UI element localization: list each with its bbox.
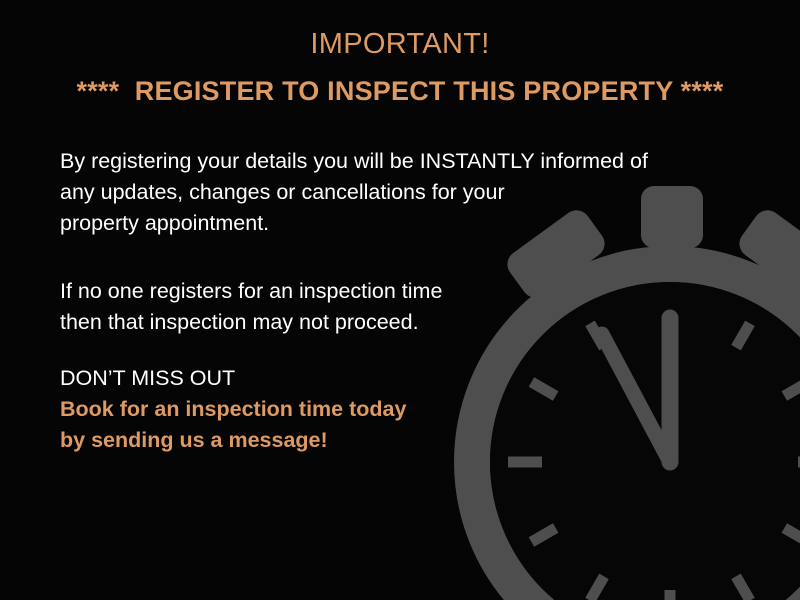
text-layer: IMPORTANT! **** REGISTER TO INSPECT THIS…	[0, 0, 800, 600]
cta-dont-miss-out: DON’T MISS OUT	[60, 363, 235, 394]
cta-book-inspection: Book for an inspection time today by sen…	[60, 394, 406, 456]
body-paragraph-no-registration: If no one registers for an inspection ti…	[60, 276, 580, 338]
heading-important: IMPORTANT!	[0, 28, 800, 61]
heading-register-banner: **** REGISTER TO INSPECT THIS PROPERTY *…	[0, 76, 800, 107]
promo-slide: IMPORTANT! **** REGISTER TO INSPECT THIS…	[0, 0, 800, 600]
body-paragraph-registering: By registering your details you will be …	[60, 146, 720, 239]
